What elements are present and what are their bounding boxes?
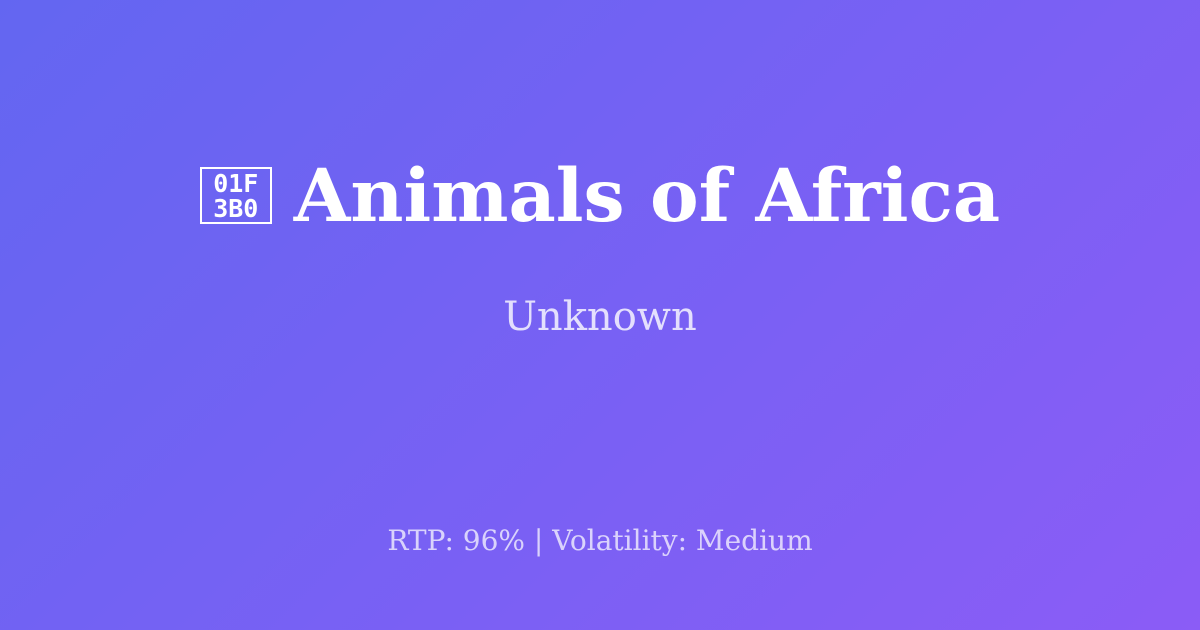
codepoint-high-nibbles: 01F — [213, 171, 258, 196]
og-share-card: 01F 3B0 Animals of Africa Unknown RTP: 9… — [0, 0, 1200, 630]
card-footer: RTP: 96% | Volatility: Medium — [0, 524, 1200, 558]
codepoint-low-nibbles: 3B0 — [213, 196, 258, 221]
page-title: Animals of Africa — [294, 156, 1000, 236]
card-subtitle: Unknown — [503, 236, 697, 341]
game-stats-line: RTP: 96% | Volatility: Medium — [0, 524, 1200, 558]
title-row: 01F 3B0 Animals of Africa — [200, 156, 1000, 236]
slot-machine-emoji-icon: 01F 3B0 — [200, 167, 272, 224]
card-center-stack: 01F 3B0 Animals of Africa Unknown — [0, 0, 1200, 470]
